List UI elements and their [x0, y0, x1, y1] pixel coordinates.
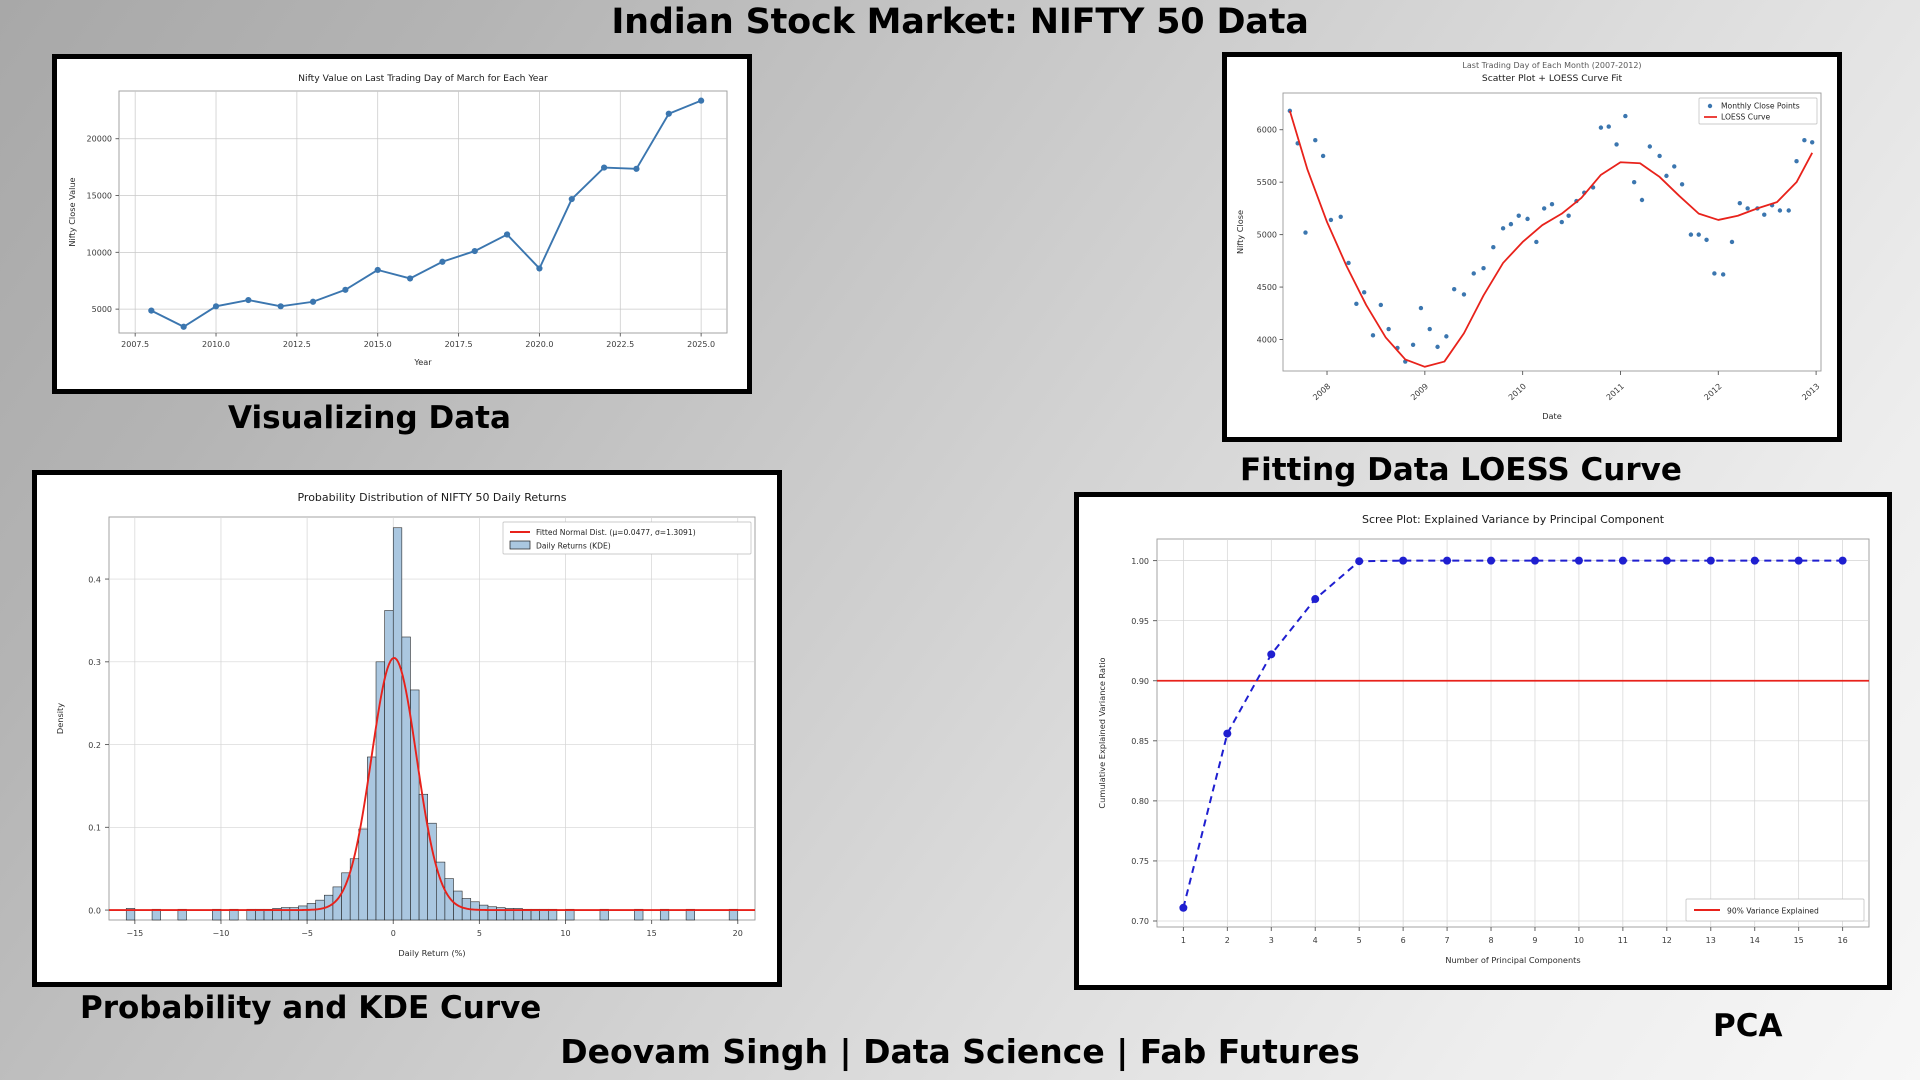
svg-text:2020.0: 2020.0: [525, 340, 553, 349]
caption-loess: Fitting Data LOESS Curve: [1240, 452, 1682, 488]
chart-nifty-yearly: Nifty Value on Last Trading Day of March…: [57, 59, 747, 389]
svg-text:6000: 6000: [1257, 126, 1277, 135]
svg-text:Daily Return (%): Daily Return (%): [398, 948, 465, 958]
svg-text:2011: 2011: [1605, 382, 1626, 402]
svg-text:9: 9: [1532, 936, 1537, 945]
svg-text:2007.5: 2007.5: [121, 340, 149, 349]
svg-text:5: 5: [477, 929, 482, 938]
svg-text:2012.5: 2012.5: [283, 340, 311, 349]
chart-daily-returns-kde: Probability Distribution of NIFTY 50 Dai…: [37, 475, 777, 982]
svg-text:2: 2: [1225, 936, 1230, 945]
svg-text:2010.0: 2010.0: [202, 340, 230, 349]
caption-visualizing-data: Visualizing Data: [228, 400, 511, 436]
svg-text:Scatter Plot + LOESS Curve Fit: Scatter Plot + LOESS Curve Fit: [1482, 73, 1623, 84]
svg-text:0.2: 0.2: [88, 741, 101, 750]
svg-text:5000: 5000: [1257, 231, 1277, 240]
svg-text:2009: 2009: [1409, 382, 1430, 402]
svg-text:16: 16: [1838, 936, 1848, 945]
svg-text:12: 12: [1662, 936, 1672, 945]
svg-text:15: 15: [647, 929, 657, 938]
svg-text:0.80: 0.80: [1131, 797, 1149, 806]
svg-text:8: 8: [1488, 936, 1493, 945]
svg-text:3: 3: [1269, 936, 1274, 945]
caption-kde: Probability and KDE Curve: [80, 990, 541, 1026]
page-title: Indian Stock Market: NIFTY 50 Data: [0, 2, 1920, 42]
poster-slide: Indian Stock Market: NIFTY 50 Data Nifty…: [0, 0, 1920, 1080]
svg-text:11: 11: [1618, 936, 1628, 945]
svg-text:10: 10: [560, 929, 570, 938]
svg-text:5000: 5000: [92, 305, 112, 314]
figure-panel-pca-scree: Scree Plot: Explained Variance by Princi…: [1074, 492, 1892, 990]
svg-text:10000: 10000: [87, 248, 112, 257]
svg-text:4: 4: [1313, 936, 1318, 945]
svg-text:Nifty Close: Nifty Close: [1235, 210, 1245, 254]
svg-text:4000: 4000: [1257, 336, 1277, 345]
svg-text:Nifty Value on Last Trading Da: Nifty Value on Last Trading Day of March…: [298, 73, 548, 84]
svg-text:Probability Distribution of NI: Probability Distribution of NIFTY 50 Dai…: [297, 491, 566, 504]
svg-text:Density: Density: [55, 703, 65, 734]
svg-text:2013: 2013: [1800, 382, 1821, 402]
svg-text:0.90: 0.90: [1131, 677, 1149, 686]
svg-text:Cumulative Explained Variance: Cumulative Explained Variance Ratio: [1097, 657, 1107, 808]
chart-loess-scatter: Last Trading Day of Each Month (2007-201…: [1227, 57, 1837, 437]
svg-text:5500: 5500: [1257, 178, 1277, 187]
svg-text:Daily Returns (KDE): Daily Returns (KDE): [536, 542, 611, 551]
svg-text:0.0: 0.0: [88, 906, 101, 915]
svg-text:2012: 2012: [1702, 382, 1723, 402]
svg-text:Monthly Close Points: Monthly Close Points: [1721, 102, 1800, 111]
svg-text:0: 0: [391, 929, 396, 938]
svg-text:LOESS Curve: LOESS Curve: [1721, 113, 1771, 122]
svg-text:1.00: 1.00: [1131, 557, 1149, 566]
svg-text:2008: 2008: [1311, 382, 1332, 402]
svg-text:2015.0: 2015.0: [364, 340, 392, 349]
svg-text:Scree Plot: Explained Variance: Scree Plot: Explained Variance by Princi…: [1362, 513, 1665, 526]
svg-text:−10: −10: [213, 929, 230, 938]
svg-text:14: 14: [1750, 936, 1760, 945]
svg-text:10: 10: [1574, 936, 1584, 945]
svg-text:20000: 20000: [87, 135, 112, 144]
svg-text:2025.0: 2025.0: [687, 340, 715, 349]
svg-text:6: 6: [1401, 936, 1406, 945]
svg-text:0.75: 0.75: [1131, 857, 1149, 866]
svg-text:Nifty Close Value: Nifty Close Value: [67, 177, 77, 246]
svg-text:4500: 4500: [1257, 283, 1277, 292]
svg-text:0.1: 0.1: [88, 824, 101, 833]
svg-text:0.95: 0.95: [1131, 617, 1149, 626]
figure-panel-nifty-yearly: Nifty Value on Last Trading Day of March…: [52, 54, 752, 394]
svg-text:1: 1: [1181, 936, 1186, 945]
svg-text:0.4: 0.4: [88, 575, 101, 584]
svg-text:2017.5: 2017.5: [445, 340, 473, 349]
svg-text:7: 7: [1445, 936, 1450, 945]
svg-text:2010: 2010: [1507, 382, 1528, 402]
figure-panel-loess: Last Trading Day of Each Month (2007-201…: [1222, 52, 1842, 442]
svg-text:−5: −5: [301, 929, 313, 938]
svg-text:−15: −15: [126, 929, 143, 938]
svg-text:5: 5: [1357, 936, 1362, 945]
chart-pca-scree: Scree Plot: Explained Variance by Princi…: [1079, 497, 1887, 985]
svg-text:90% Variance Explained: 90% Variance Explained: [1727, 907, 1819, 916]
svg-text:Last Trading Day of Each Month: Last Trading Day of Each Month (2007-201…: [1462, 61, 1641, 70]
svg-text:2022.5: 2022.5: [606, 340, 634, 349]
footer-credit: Deovam Singh | Data Science | Fab Future…: [0, 1032, 1920, 1071]
svg-text:20: 20: [733, 929, 743, 938]
svg-text:Fitted Normal Dist. (μ=0.0477,: Fitted Normal Dist. (μ=0.0477, σ=1.3091): [536, 528, 696, 537]
svg-text:0.70: 0.70: [1131, 917, 1149, 926]
svg-text:Date: Date: [1542, 411, 1562, 421]
svg-text:0.3: 0.3: [88, 658, 101, 667]
svg-text:15000: 15000: [87, 192, 112, 201]
svg-text:15: 15: [1794, 936, 1804, 945]
figure-panel-kde: Probability Distribution of NIFTY 50 Dai…: [32, 470, 782, 987]
svg-text:13: 13: [1706, 936, 1716, 945]
svg-text:0.85: 0.85: [1131, 737, 1149, 746]
svg-text:Year: Year: [413, 357, 432, 367]
svg-text:Number of Principal Components: Number of Principal Components: [1445, 955, 1580, 965]
